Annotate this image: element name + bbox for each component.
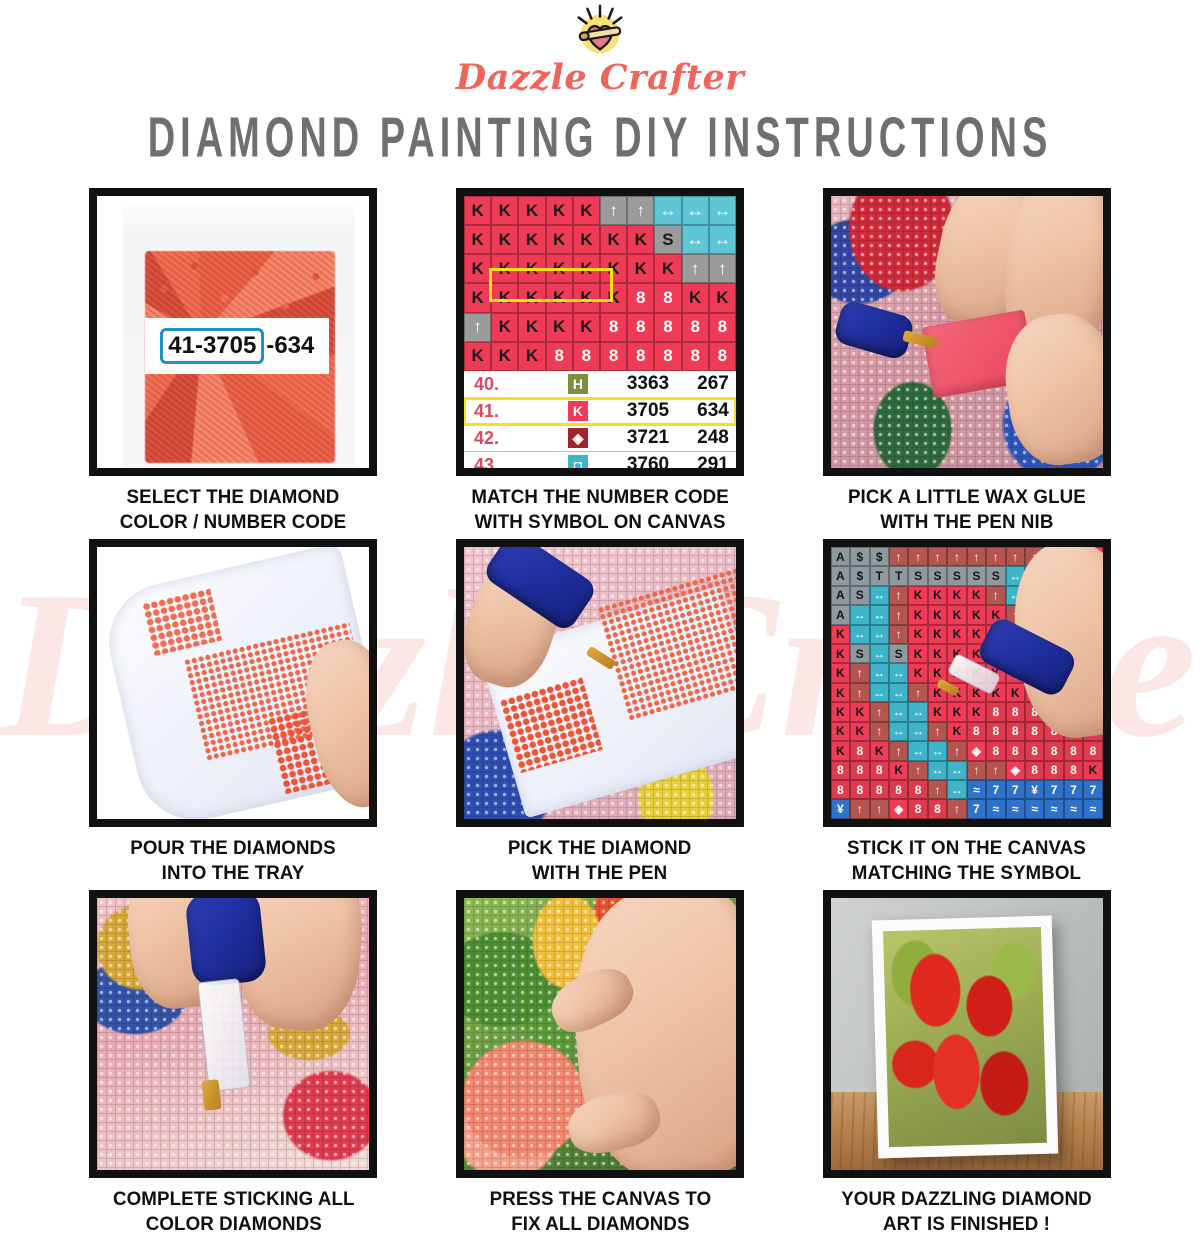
symbol-cell: 8 [1064, 741, 1083, 760]
chart-cell: K [491, 313, 518, 342]
chart-cell: K [464, 342, 491, 371]
chart-cell: K [464, 254, 491, 283]
legend-symbol: ◈ [550, 428, 606, 448]
symbol-cell: ↔ [928, 741, 947, 760]
symbol-cell: 8 [967, 722, 986, 741]
step-7-complete-sticking: COMPLETE STICKING ALL COLOR DIAMONDS [60, 890, 407, 1237]
chart-cell: K [573, 313, 600, 342]
symbol-cell: ↔ [870, 644, 889, 663]
symbol-cell: T [889, 566, 908, 585]
symbol-cell: ↔ [889, 683, 908, 702]
chart-cell: 8 [627, 313, 654, 342]
symbol-cell: K [831, 625, 850, 644]
chart-cell: 8 [627, 283, 654, 312]
symbol-cell: K [850, 722, 869, 741]
symbol-cell: ¥ [1025, 780, 1044, 799]
brand-logo [0, 4, 1200, 62]
symbol-cell: 8 [1006, 722, 1025, 741]
symbol-cell: 8 [908, 799, 927, 818]
symbol-cell: ↔ [947, 761, 966, 780]
chart-cell: 8 [600, 342, 627, 371]
chart-cell: ↑ [627, 196, 654, 225]
legend-row: 43.◘3760291 [464, 452, 736, 468]
symbol-cell: K [967, 605, 986, 624]
symbol-cell: ↑ [870, 799, 889, 818]
symbol-cell: ↔ [870, 625, 889, 644]
chart-cell: S [654, 225, 681, 254]
chart-cell: K [491, 342, 518, 371]
legend-number: 42. [464, 428, 520, 449]
symbol-cell: 8 [1006, 702, 1025, 721]
symbol-cell: K [1083, 761, 1102, 780]
chart-cell: 8 [600, 313, 627, 342]
legend-number: 40. [464, 374, 520, 395]
legend-number: 41. [464, 401, 520, 422]
symbol-cell: K [870, 741, 889, 760]
step-4-image [89, 539, 377, 827]
symbol-cell: ↔ [889, 663, 908, 682]
pen-body-blue [185, 898, 268, 988]
symbol-cell: S [850, 586, 869, 605]
symbol-cell: K [967, 586, 986, 605]
legend-quantity: 248 [690, 427, 736, 449]
step-9-caption: YOUR DAZZLING DIAMOND ART IS FINISHED ! [841, 1187, 1092, 1237]
chart-cell: 8 [654, 342, 681, 371]
step-7-caption: COMPLETE STICKING ALL COLOR DIAMONDS [113, 1187, 355, 1237]
step-8-press-canvas: PRESS THE CANVAS TO FIX ALL DIAMONDS [427, 890, 774, 1237]
chart-cell: K [518, 196, 545, 225]
chart-cell: K [464, 283, 491, 312]
chart-cell: 8 [682, 313, 709, 342]
step-2-caption: MATCH THE NUMBER CODE WITH SYMBOL ON CAN… [471, 485, 729, 535]
symbol-cell: K [850, 702, 869, 721]
symbol-cell: ↔ [889, 722, 908, 741]
symbol-cell: ↑ [967, 547, 986, 566]
symbol-cell: 8 [986, 722, 1005, 741]
step-4-pour-tray: POUR THE DIAMONDS INTO THE TRAY [60, 539, 407, 886]
symbol-cell: ↔ [870, 663, 889, 682]
step-1-image: 41-3705-634 [89, 188, 377, 476]
chart-cell: ↔ [709, 225, 736, 254]
symbol-cell: K [831, 702, 850, 721]
chart-highlight-box [489, 268, 613, 302]
chart-cell: 8 [654, 313, 681, 342]
symbol-cell: ↔ [870, 683, 889, 702]
chart-cell: ↔ [709, 196, 736, 225]
symbol-cell: S [928, 566, 947, 585]
symbol-cell: $ [870, 547, 889, 566]
chart-cell: K [573, 196, 600, 225]
chart-cell: K [518, 225, 545, 254]
symbol-cell: ↔ [908, 722, 927, 741]
symbol-cell: 8 [850, 741, 869, 760]
legend-dmc-code: 3760 [606, 454, 690, 468]
symbol-cell: ≈ [1025, 799, 1044, 818]
chart-cell: 8 [709, 342, 736, 371]
step-2-match-code: KKKKK↑↑↔↔↔KKKKKKKS↔↔KKKKKKKK↑↑KKKKKK88KK… [427, 188, 774, 535]
symbol-cell: A [831, 586, 850, 605]
step-2-image: KKKKK↑↑↔↔↔KKKKKKKS↔↔KKKKKKKK↑↑KKKKKK88KK… [456, 188, 744, 476]
legend-row: 42.◈3721248 [464, 425, 736, 452]
symbol-cell: ↑ [928, 780, 947, 799]
symbol-cell: ↑ [889, 586, 908, 605]
step-3-caption: PICK A LITTLE WAX GLUE WITH THE PEN NIB [848, 485, 1086, 535]
symbol-cell: ↑ [928, 547, 947, 566]
symbol-cell: T [870, 566, 889, 585]
symbol-cell: S [889, 644, 908, 663]
symbol-cell: ↑ [947, 741, 966, 760]
symbol-cell: K [947, 605, 966, 624]
chart-cell: K [546, 313, 573, 342]
step-6-caption: STICK IT ON THE CANVAS MATCHING THE SYMB… [847, 836, 1086, 886]
legend-row: 41.K3705634 [464, 398, 736, 425]
symbol-cell: ↑ [850, 663, 869, 682]
symbol-cell: K [928, 702, 947, 721]
chart-cell: ↑ [464, 313, 491, 342]
symbol-cell: S [947, 566, 966, 585]
symbol-cell: ↑ [947, 547, 966, 566]
symbol-cell: ↔ [889, 702, 908, 721]
symbol-cell: ↑ [908, 761, 927, 780]
symbol-cell: 8 [986, 741, 1005, 760]
symbol-cell: A [831, 547, 850, 566]
symbol-cell: K [947, 586, 966, 605]
symbol-cell: ↑ [967, 761, 986, 780]
symbol-cell: 8 [928, 799, 947, 818]
chart-cell: K [627, 254, 654, 283]
legend-quantity: 291 [690, 454, 736, 468]
chart-cell: 8 [709, 313, 736, 342]
symbol-cell: A [831, 566, 850, 585]
symbol-cell: ↑ [1006, 547, 1025, 566]
symbol-cell: ↑ [986, 547, 1005, 566]
symbol-cell: ≈ [967, 780, 986, 799]
heart-with-pen-sunburst-icon [571, 4, 629, 60]
step-1-caption: SELECT THE DIAMOND COLOR / NUMBER CODE [120, 485, 346, 535]
chart-cell: 8 [546, 342, 573, 371]
chart-cell: K [464, 196, 491, 225]
symbol-cell: K [831, 683, 850, 702]
chart-cell: K [600, 225, 627, 254]
chart-cell: ↑ [600, 196, 627, 225]
legend-row: 40.H3363267 [464, 371, 736, 398]
chart-cell: K [654, 254, 681, 283]
legend-quantity: 634 [690, 400, 736, 422]
chart-cell: K [518, 313, 545, 342]
symbol-cell: ↑ [889, 605, 908, 624]
symbol-cell: K [831, 741, 850, 760]
chart-cell: K [518, 342, 545, 371]
symbol-cell: K [831, 663, 850, 682]
chart-cell: K [709, 283, 736, 312]
symbol-cell: 8 [850, 761, 869, 780]
symbol-cell: 8 [1044, 761, 1063, 780]
symbol-cell: 8 [1044, 741, 1063, 760]
symbol-cell: ↔ [870, 586, 889, 605]
legend-symbol: ◘ [550, 455, 606, 468]
symbol-cell: 8 [870, 780, 889, 799]
symbol-cell: S [967, 566, 986, 585]
symbol-cell: 8 [889, 780, 908, 799]
symbol-cell: 7 [986, 780, 1005, 799]
step-3-wax-glue: PICK A LITTLE WAX GLUE WITH THE PEN NIB [793, 188, 1140, 535]
chart-cell: K [573, 225, 600, 254]
color-legend-table: 40.H336326741.K370563442.◈372124843.◘376… [464, 371, 736, 468]
symbol-cell: ↑ [870, 702, 889, 721]
symbol-cell: K [908, 586, 927, 605]
step-8-image [456, 890, 744, 1178]
symbol-cell: K [967, 702, 986, 721]
step-9-finished-art: YOUR DAZZLING DIAMOND ART IS FINISHED ! [793, 890, 1140, 1237]
chart-cell: K [546, 225, 573, 254]
symbol-cell: 8 [831, 761, 850, 780]
symbol-cell: $ [850, 566, 869, 585]
symbol-cell: ↑ [986, 586, 1005, 605]
step-5-caption: PICK THE DIAMOND WITH THE PEN [508, 836, 692, 886]
symbol-cell: 7 [1044, 780, 1063, 799]
chart-cell: 8 [682, 342, 709, 371]
color-code-boxed: 41-3705 [160, 328, 264, 364]
symbol-cell: ↑ [889, 547, 908, 566]
step-5-image [456, 539, 744, 827]
chart-cell: K [464, 225, 491, 254]
step-9-image [823, 890, 1111, 1178]
legend-dmc-code: 3721 [606, 427, 690, 449]
step-4-caption: POUR THE DIAMONDS INTO THE TRAY [131, 836, 336, 886]
symbol-cell: K [947, 625, 966, 644]
symbol-cell: ↑ [928, 722, 947, 741]
symbol-cell: 8 [1064, 761, 1083, 780]
step-8-caption: PRESS THE CANVAS TO FIX ALL DIAMONDS [489, 1187, 711, 1237]
legend-dmc-code: 3705 [606, 400, 690, 422]
symbol-cell: K [947, 722, 966, 741]
symbol-cell: K [1006, 683, 1025, 702]
symbol-cell: K [928, 625, 947, 644]
symbol-cell: ↑ [908, 547, 927, 566]
legend-dmc-code: 3363 [606, 373, 690, 395]
symbol-cell: 8 [986, 702, 1005, 721]
chart-cell: 8 [654, 283, 681, 312]
symbol-cell: 7 [1006, 780, 1025, 799]
step-7-image [89, 890, 377, 1178]
symbol-cell: ↔ [870, 605, 889, 624]
symbol-cell: K [831, 644, 850, 663]
symbol-cell: 8 [1025, 722, 1044, 741]
symbol-cell: 7 [1083, 780, 1102, 799]
symbol-cell: K [908, 605, 927, 624]
symbol-cell: ↔ [908, 741, 927, 760]
symbol-cell: 8 [1006, 741, 1025, 760]
symbol-cell: K [889, 761, 908, 780]
chart-cell: ↑ [682, 254, 709, 283]
symbol-cell: ↔ [947, 780, 966, 799]
symbol-cell: ↑ [947, 799, 966, 818]
chart-cell: ↔ [682, 196, 709, 225]
symbol-cell: ↑ [986, 761, 1005, 780]
symbol-cell: K [908, 625, 927, 644]
symbol-cell: ↔ [850, 625, 869, 644]
step-1-select-diamond: 41-3705-634 SELECT THE DIAMOND COLOR / N… [60, 188, 407, 535]
symbol-cell: 8 [1025, 741, 1044, 760]
symbol-cell: ↔ [928, 761, 947, 780]
symbol-cell: ◈ [967, 741, 986, 760]
legend-quantity: 267 [690, 373, 736, 395]
symbol-cell: 8 [1025, 761, 1044, 780]
chart-cell: 8 [627, 342, 654, 371]
symbol-cell: ◈ [889, 799, 908, 818]
symbol-cell: ↑ [908, 683, 927, 702]
pen-nib [202, 1079, 222, 1111]
symbol-cell: ↑ [889, 625, 908, 644]
legend-number: 43. [464, 455, 520, 469]
symbol-cell: S [850, 644, 869, 663]
step-5-pick-diamond: PICK THE DIAMOND WITH THE PEN [427, 539, 774, 886]
chart-cell: K [627, 225, 654, 254]
symbol-cell: S [986, 566, 1005, 585]
symbol-cell: ≈ [1044, 799, 1063, 818]
symbol-cell: A [831, 605, 850, 624]
symbol-cell: 8 [831, 780, 850, 799]
symbol-cell: 8 [908, 780, 927, 799]
symbol-cell: ↑ [850, 799, 869, 818]
chart-cell: K [491, 196, 518, 225]
symbol-cell: 8 [870, 761, 889, 780]
symbol-cell: $ [850, 547, 869, 566]
symbol-cell: ≈ [1064, 799, 1083, 818]
symbol-cell: ↑ [870, 722, 889, 741]
brand-name: Dazzle Crafter [0, 60, 1200, 95]
chart-cell: ↔ [654, 196, 681, 225]
symbol-cell: ¥ [831, 799, 850, 818]
symbol-cell: S [908, 566, 927, 585]
chart-cell: 8 [573, 342, 600, 371]
symbol-cell: ↔ [908, 702, 927, 721]
symbol-cell: K [928, 605, 947, 624]
bag-label: 41-3705-634 [145, 318, 329, 374]
chart-cell: ↑ [709, 254, 736, 283]
symbol-cell: ≈ [1083, 799, 1102, 818]
symbol-cell: ◈ [1006, 761, 1025, 780]
symbol-cell: ↑ [889, 741, 908, 760]
symbol-cell: K [928, 586, 947, 605]
symbol-cell: ↔ [850, 605, 869, 624]
symbol-cell: 8 [1083, 741, 1102, 760]
page-title: DIAMOND PAINTING DIY INSTRUCTIONS [0, 107, 1200, 172]
symbol-cell: ≈ [986, 799, 1005, 818]
symbol-cell: 7 [1064, 780, 1083, 799]
color-code-tail: -634 [266, 332, 314, 360]
page-header: Dazzle Crafter DIAMOND PAINTING DIY INST… [0, 0, 1200, 150]
symbol-cell: K [928, 644, 947, 663]
legend-symbol: K [550, 401, 606, 421]
symbol-cell: K [908, 663, 927, 682]
symbol-cell: ≈ [1006, 799, 1025, 818]
symbol-cell: K [908, 644, 927, 663]
chart-cell: K [682, 283, 709, 312]
chart-cell: K [546, 196, 573, 225]
symbol-cell: K [947, 702, 966, 721]
step-3-image [823, 188, 1111, 476]
chart-cell: ↔ [682, 225, 709, 254]
step-6-image: A$$↑↑↑↑↑↑↑↑↑KKA$TTSSSSS↔↔SKKAS↔↑KKKK↑↔↔↔… [823, 539, 1111, 827]
instruction-steps-grid: 41-3705-634 SELECT THE DIAMOND COLOR / N… [0, 188, 1200, 1237]
symbol-cell: 8 [850, 780, 869, 799]
symbol-cell: ↑ [850, 683, 869, 702]
symbol-cell: K [831, 722, 850, 741]
legend-symbol: H [550, 374, 606, 394]
chart-cell: K [491, 225, 518, 254]
symbol-cell: 7 [967, 799, 986, 818]
step-6-stick-canvas: A$$↑↑↑↑↑↑↑↑↑KKA$TTSSSSS↔↔SKKAS↔↑KKKK↑↔↔↔… [793, 539, 1140, 886]
finished-poppy-artwork [883, 927, 1047, 1147]
